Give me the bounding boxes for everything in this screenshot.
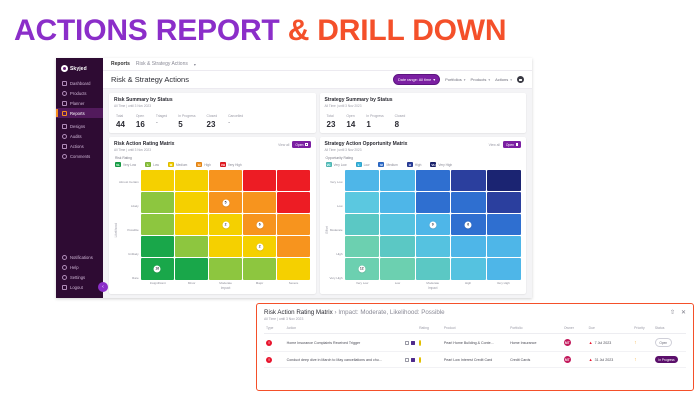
cell-rating: [417, 334, 442, 352]
stat-in-progress: In Progress 5: [178, 114, 195, 129]
heatmap-cell[interactable]: 2: [209, 214, 242, 235]
heatmap-cell[interactable]: [243, 192, 276, 213]
heatmap-cell-count[interactable]: 6: [465, 221, 472, 228]
x-axis-tick: Low: [380, 281, 415, 285]
close-icon[interactable]: ✕: [681, 309, 686, 316]
link-icon[interactable]: [411, 341, 415, 345]
legend-label: Low: [153, 163, 159, 167]
legend-item: VLVery Low: [326, 162, 347, 167]
heatmap-cell-count[interactable]: 9: [429, 221, 436, 228]
strategy-legend: VLVery LowLLowMMediumHHighVHVery High: [325, 162, 522, 167]
stat-label: Closed: [207, 114, 218, 118]
risk-summary-card: Risk Summary by Status All Time | until …: [109, 93, 316, 133]
risk-icon: !: [266, 357, 272, 363]
stat-value: -: [156, 120, 167, 126]
stat-value: 23: [207, 120, 218, 129]
drilldown-separator: ›: [335, 309, 337, 316]
stat-value: -: [228, 120, 243, 126]
stat-triaged: Triaged -: [156, 114, 167, 129]
cell-portfolio: Home Insurance: [508, 334, 562, 352]
sidebar-item-settings[interactable]: Settings: [56, 272, 103, 282]
due-date: 31 Jul 2023: [595, 358, 614, 362]
legend-item: LLow: [145, 162, 159, 167]
drilldown-table: Type Action Rating Product Portfolio Own…: [264, 326, 686, 368]
legend-label: Medium: [176, 163, 187, 167]
chevron-down-icon[interactable]: ▾: [194, 62, 196, 67]
y-axis-tick: Unlikely: [119, 253, 139, 256]
x-axis-tick: High: [450, 281, 485, 285]
legend-swatch: VL: [326, 162, 332, 167]
x-axis-tick: Very High: [486, 281, 521, 285]
heatmap-cell[interactable]: 6: [451, 214, 486, 235]
legend-item: MMedium: [168, 162, 187, 167]
bell-icon: [62, 255, 67, 260]
sidebar-item-label: Products: [70, 91, 87, 96]
date-range-filter[interactable]: Date range: All time ▾: [393, 74, 440, 85]
reports-icon: [62, 111, 67, 116]
y-axis-title: Likelihood: [114, 223, 118, 237]
products-filter[interactable]: Products ▾: [471, 77, 491, 82]
legend-label: Very Low: [123, 163, 136, 167]
products-icon: [62, 91, 67, 96]
card-subtitle: All Time | until 3 Nov 2023: [325, 104, 393, 108]
heatmap-cell[interactable]: [141, 214, 174, 235]
attachment-icon[interactable]: [405, 341, 409, 345]
legend-swatch: H: [196, 162, 202, 167]
open-button[interactable]: Open: [503, 141, 521, 148]
heatmap-cell[interactable]: 9: [416, 214, 451, 235]
y-axis-title: Effort: [325, 226, 329, 234]
y-axis-tick: Moderate: [330, 229, 343, 232]
x-axis-tick: Very Low: [345, 281, 380, 285]
chevron-down-icon: ▾: [464, 78, 466, 82]
heatmap-cell[interactable]: [487, 170, 522, 191]
card-title: Risk Action Rating Matrix: [114, 141, 174, 147]
drilldown-title: Risk Action Rating Matrix › Impact: Mode…: [264, 309, 445, 316]
strategy-matrix-card: Strategy Action Opportunity Matrix All T…: [320, 137, 527, 294]
sidebar-item-designs[interactable]: Designs: [56, 121, 103, 131]
brand-name: Skyjed: [70, 66, 87, 72]
chevron-down-icon: ▾: [433, 77, 435, 82]
breadcrumb-root[interactable]: Reports: [111, 61, 130, 67]
heatmap-cell[interactable]: [416, 170, 451, 191]
legend-item: VHVery High: [430, 162, 452, 167]
column-portfolio: Portfolio: [508, 326, 562, 334]
sidebar-item-reports[interactable]: Reports: [56, 108, 103, 118]
heatmap-cell[interactable]: [345, 170, 379, 191]
legend-label: High: [204, 163, 211, 167]
sidebar-item-label: Help: [70, 265, 79, 270]
y-axis-tick: Likely: [119, 205, 139, 208]
stat-label: Total: [327, 114, 336, 118]
sidebar: Skyjed Dashboard Products Planner Report…: [56, 58, 103, 298]
y-axis-tick: Rare: [119, 277, 139, 280]
cell-type: !: [264, 334, 285, 352]
comments-icon: [62, 154, 67, 159]
heatmap-cell[interactable]: 16: [141, 258, 174, 279]
sidebar-item-label: Notifications: [70, 255, 93, 260]
strategy-matrix-chart: Effort Very LowLowModerateHighVery High …: [325, 170, 522, 290]
card-subtitle: All Time | until 3 Nov 2023: [325, 148, 408, 152]
stat-value: 14: [346, 120, 355, 129]
heatmap-cell-count[interactable]: 2: [256, 243, 263, 250]
risk-matrix-chart: Likelihood Almost CertainLikelyPossibleU…: [114, 170, 311, 290]
products-filter-label: Products: [471, 77, 487, 82]
heatmap-cell[interactable]: [451, 236, 486, 257]
heatmap-cell[interactable]: [175, 170, 208, 191]
stat-value: 5: [178, 120, 195, 129]
open-button[interactable]: Open: [292, 141, 310, 148]
x-axis-title: Impact: [345, 286, 521, 290]
cell-product: Pearl Home Building & Conte...: [442, 334, 508, 352]
heatmap-cell[interactable]: [487, 258, 522, 279]
sidebar-collapse-button[interactable]: ‹: [98, 282, 108, 292]
table-row[interactable]: !Conduct deep dive in March to May cance…: [264, 352, 686, 368]
view-all-link[interactable]: View all: [489, 143, 500, 147]
x-axis-tick: Moderate: [415, 281, 450, 285]
cell-product: Pearl Low Interest Credit Card: [442, 352, 508, 368]
heatmap-cell[interactable]: [277, 214, 310, 235]
column-rating: Rating: [417, 326, 442, 334]
x-axis-title: Impact: [141, 286, 311, 290]
header-toolbar: Date range: All time ▾ Portfolios ▾ Prod…: [393, 74, 524, 85]
heatmap-cell[interactable]: [451, 170, 486, 191]
breadcrumb-current[interactable]: Risk & Strategy Actions: [136, 61, 188, 67]
legend-swatch: H: [407, 162, 413, 167]
heatmap-cell[interactable]: [487, 214, 522, 235]
sidebar-item-help[interactable]: Help: [56, 262, 103, 272]
risk-heatmap-grid[interactable]: 526216: [141, 170, 311, 280]
cell-status: In Progress: [653, 352, 686, 368]
card-title: Risk Summary by Status: [114, 97, 173, 103]
heatmap-cell[interactable]: [345, 236, 379, 257]
drilldown-context: Impact: Moderate, Likelihood: Possible: [338, 309, 444, 316]
card-title: Strategy Summary by Status: [325, 97, 393, 103]
legend-swatch: M: [378, 162, 384, 167]
due-date: 7 Jul 2023: [595, 341, 612, 345]
column-type: Type: [264, 326, 285, 334]
heatmap-cell[interactable]: [209, 170, 242, 191]
sidebar-item-products[interactable]: Products: [56, 88, 103, 98]
heatmap-cell[interactable]: [277, 192, 310, 213]
sidebar-item-audits[interactable]: Audits: [56, 131, 103, 141]
heatmap-cell-count[interactable]: 6: [256, 221, 263, 228]
page-banner: ACTIONS REPORT & DRILL DOWN: [14, 14, 506, 48]
heatmap-cell[interactable]: [209, 236, 242, 257]
stat-value: 23: [327, 120, 336, 129]
external-link-icon: [305, 143, 308, 146]
portfolios-filter-label: Portfolios: [445, 77, 462, 82]
heatmap-cell[interactable]: [416, 192, 451, 213]
stat-open: Open 14: [346, 114, 355, 129]
heatmap-cell[interactable]: [141, 236, 174, 257]
sidebar-item-label: Settings: [70, 275, 85, 280]
sidebar-item-label: Reports: [70, 111, 85, 116]
heatmap-cell[interactable]: [209, 258, 242, 279]
heatmap-cell[interactable]: 2: [243, 236, 276, 257]
column-status: Status: [653, 326, 686, 334]
heatmap-cell[interactable]: [380, 236, 415, 257]
legend-caption: Opportunity Rating: [326, 156, 522, 160]
attachment-icon[interactable]: [405, 358, 409, 362]
heatmap-cell[interactable]: 12: [345, 258, 379, 279]
legend-label: Very Low: [334, 163, 347, 167]
x-axis-tick: Moderate: [209, 281, 243, 285]
page-header: Risk & Strategy Actions Date range: All …: [103, 71, 532, 89]
legend-item: VLVery Low: [115, 162, 136, 167]
legend-item: MMedium: [378, 162, 397, 167]
cell-type: !: [264, 352, 285, 368]
rating-indicator: [419, 340, 421, 346]
risk-legend: VLVery LowLLowMMediumHHighVHVery High: [114, 162, 311, 167]
cell-owner: MT: [562, 352, 587, 368]
heatmap-cell[interactable]: [345, 214, 379, 235]
legend-caption: Risk Rating: [115, 156, 311, 160]
heatmap-cell[interactable]: [451, 258, 486, 279]
heatmap-cell[interactable]: [487, 192, 522, 213]
heatmap-cell[interactable]: [277, 236, 310, 257]
legend-swatch: VH: [220, 162, 226, 167]
cell-due: ▲7 Jul 2023: [587, 334, 633, 352]
actions-filter-label: Actions: [495, 77, 508, 82]
stat-closed: Closed 23: [207, 114, 218, 129]
heatmap-cell[interactable]: [451, 192, 486, 213]
avatar[interactable]: MT: [564, 339, 571, 346]
sidebar-item-notifications[interactable]: Notifications: [56, 252, 103, 262]
column-product: Product: [442, 326, 508, 334]
status-badge: In Progress: [655, 356, 678, 363]
column-due: Due: [587, 326, 633, 334]
sidebar-bottom-nav: Notifications Help Settings Logout: [56, 252, 103, 298]
card-subtitle: All Time | until 3 Nov 2023: [114, 148, 174, 152]
stat-value: 1: [366, 120, 383, 129]
y-axis-tick: Low: [330, 205, 343, 208]
cell-action[interactable]: Conduct deep dive in March to May cancel…: [285, 352, 417, 368]
stat-label: Cancelled: [228, 114, 243, 118]
logout-icon: [62, 285, 67, 290]
heatmap-cell-count[interactable]: 2: [222, 221, 229, 228]
legend-item: LLow: [356, 162, 370, 167]
external-link-icon: [516, 143, 519, 146]
table-header-row: Type Action Rating Product Portfolio Own…: [264, 326, 686, 334]
heatmap-cell[interactable]: 5: [209, 192, 242, 213]
brand-mark-icon: [61, 65, 68, 72]
legend-label: Medium: [386, 163, 397, 167]
stat-label: Open: [136, 114, 145, 118]
heatmap-cell[interactable]: [380, 192, 415, 213]
y-axis-tick: Almost Certain: [119, 181, 139, 184]
gear-icon: [62, 275, 67, 280]
sidebar-item-label: Actions: [70, 144, 84, 149]
overdue-icon: ▲: [589, 340, 593, 345]
heatmap-cell-count[interactable]: 5: [222, 199, 229, 206]
legend-swatch: VH: [430, 162, 436, 167]
heatmap-cell[interactable]: [243, 170, 276, 191]
strategy-heatmap-grid[interactable]: 9612: [345, 170, 521, 280]
rating-indicator: [419, 357, 421, 363]
heatmap-cell[interactable]: [487, 236, 522, 257]
strategy-summary-card: Strategy Summary by Status All Time | un…: [320, 93, 527, 133]
stat-value: 8: [395, 120, 406, 129]
stat-label: In Progress: [366, 114, 383, 118]
sidebar-item-label: Planner: [70, 101, 84, 106]
chevron-down-icon: ▾: [488, 78, 490, 82]
heatmap-cell[interactable]: [175, 258, 208, 279]
cell-rating: [417, 352, 442, 368]
heatmap-cell[interactable]: [175, 214, 208, 235]
help-icon: [62, 265, 67, 270]
sidebar-item-actions[interactable]: Actions: [56, 141, 103, 151]
date-range-label: Date range: All time: [398, 78, 431, 82]
stat-value: 16: [136, 120, 145, 129]
sidebar-item-label: Comments: [70, 154, 90, 159]
legend-label: High: [415, 163, 422, 167]
cell-action[interactable]: Home Insurance Complaints Received Trigg…: [285, 334, 417, 352]
brand-logo[interactable]: Skyjed: [56, 63, 103, 78]
heatmap-cell[interactable]: [380, 214, 415, 235]
priority-icon: ↑: [634, 340, 637, 346]
x-axis-tick: Insignificant: [141, 281, 175, 285]
y-axis-tick: High: [330, 253, 343, 256]
risk-icon: !: [266, 340, 272, 346]
x-axis-labels: Very LowLowModerateHighVery High: [345, 281, 521, 285]
main-content: Reports Risk & Strategy Actions ▾ Risk &…: [103, 58, 532, 298]
sidebar-item-dashboard[interactable]: Dashboard: [56, 78, 103, 88]
stat-label: In Progress: [178, 114, 195, 118]
stat-value: 44: [116, 120, 125, 129]
cell-priority: ↑: [632, 352, 653, 368]
open-button-label: Open: [295, 143, 303, 147]
stat-label: Open: [346, 114, 355, 118]
portfolios-filter[interactable]: Portfolios ▾: [445, 77, 465, 82]
action-text: Home Insurance Complaints Received Trigg…: [287, 341, 361, 345]
y-axis-tick: Very Low: [330, 181, 343, 184]
table-row[interactable]: !Home Insurance Complaints Received Trig…: [264, 334, 686, 352]
sidebar-nav: Dashboard Products Planner Reports Desig…: [56, 78, 103, 161]
heatmap-cell[interactable]: [277, 170, 310, 191]
legend-label: Very High: [228, 163, 242, 167]
sidebar-item-planner[interactable]: Planner: [56, 98, 103, 108]
heatmap-cell-count[interactable]: 16: [154, 265, 161, 272]
cell-portfolio: Credit Cards: [508, 352, 562, 368]
risk-summary-stats: Total 44 Open 16 Triaged - In Progress 5: [114, 114, 311, 129]
heatmap-cell[interactable]: [243, 258, 276, 279]
stat-closed: Closed 8: [395, 114, 406, 129]
legend-item: HHigh: [407, 162, 422, 167]
status-badge: Open: [655, 338, 672, 347]
dashboard-icon: [62, 81, 67, 86]
view-all-link[interactable]: View all: [278, 143, 289, 147]
cell-owner: MT: [562, 334, 587, 352]
heatmap-cell[interactable]: [175, 236, 208, 257]
y-axis-tick: Possible: [119, 229, 139, 232]
stat-open: Open 16: [136, 114, 145, 129]
risk-matrix-card: Risk Action Rating Matrix All Time | unt…: [109, 137, 316, 294]
stat-cancelled: Cancelled -: [228, 114, 243, 129]
print-icon[interactable]: [517, 76, 524, 83]
legend-item: HHigh: [196, 162, 211, 167]
heatmap-cell[interactable]: [141, 192, 174, 213]
y-axis-labels: Almost CertainLikelyPossibleUnlikelyRare: [119, 170, 139, 290]
card-title: Strategy Action Opportunity Matrix: [325, 141, 408, 147]
column-owner: Owner: [562, 326, 587, 334]
sidebar-item-label: Designs: [70, 124, 85, 129]
stat-label: Triaged: [156, 114, 167, 118]
avatar[interactable]: MT: [564, 356, 571, 363]
sidebar-item-label: Logout: [70, 285, 83, 290]
heatmap-cell[interactable]: [380, 170, 415, 191]
audits-icon: [62, 134, 67, 139]
breadcrumb: Reports Risk & Strategy Actions ▾: [103, 58, 532, 71]
cell-status: Open: [653, 334, 686, 352]
planner-icon: [62, 101, 67, 106]
cell-priority: ↑: [632, 334, 653, 352]
heatmap-cell[interactable]: 6: [243, 214, 276, 235]
priority-icon: ↑: [634, 357, 637, 363]
actions-filter[interactable]: Actions ▾: [495, 77, 512, 82]
heatmap-cell[interactable]: [277, 258, 310, 279]
column-action: Action: [285, 326, 417, 334]
y-axis-labels: Very LowLowModerateHighVery High: [330, 170, 343, 290]
banner-title-secondary: & DRILL DOWN: [288, 14, 507, 47]
legend-label: Very High: [438, 163, 452, 167]
drilldown-panel: Risk Action Rating Matrix › Impact: Mode…: [256, 303, 694, 391]
heatmap-cell[interactable]: [416, 236, 451, 257]
card-subtitle: All Time | until 3 Nov 2023: [114, 104, 173, 108]
heatmap-cell[interactable]: [345, 192, 379, 213]
sidebar-item-label: Dashboard: [70, 81, 91, 86]
heatmap-cell-count[interactable]: 12: [358, 265, 365, 272]
legend-swatch: L: [356, 162, 362, 167]
heatmap-cell[interactable]: [416, 258, 451, 279]
sidebar-item-label: Audits: [70, 134, 82, 139]
app-window: Skyjed Dashboard Products Planner Report…: [56, 58, 532, 298]
action-text: Conduct deep dive in March to May cancel…: [287, 358, 382, 362]
legend-swatch: L: [145, 162, 151, 167]
drilldown-title-main: Risk Action Rating Matrix: [264, 309, 333, 316]
stat-total: Total 44: [116, 114, 125, 129]
overdue-icon: ▲: [589, 357, 593, 362]
banner-title-primary: ACTIONS REPORT: [14, 14, 288, 47]
heatmap-cell[interactable]: [141, 170, 174, 191]
stat-label: Total: [116, 114, 125, 118]
page-title: Risk & Strategy Actions: [111, 75, 189, 84]
heatmap-cell[interactable]: [175, 192, 208, 213]
chevron-down-icon: ▾: [510, 78, 512, 82]
x-axis-tick: Severe: [277, 281, 311, 285]
actions-icon: [62, 144, 67, 149]
share-icon[interactable]: ⇧: [670, 309, 675, 316]
sidebar-item-comments[interactable]: Comments: [56, 151, 103, 161]
legend-swatch: VL: [115, 162, 121, 167]
stat-label: Closed: [395, 114, 406, 118]
legend-item: VHVery High: [220, 162, 242, 167]
heatmap-cell[interactable]: [380, 258, 415, 279]
cell-due: ▲31 Jul 2023: [587, 352, 633, 368]
x-axis-tick: Major: [243, 281, 277, 285]
stat-in-progress: In Progress 1: [366, 114, 383, 129]
open-button-label: Open: [506, 143, 514, 147]
designs-icon: [62, 124, 67, 129]
strategy-summary-stats: Total 23 Open 14 In Progress 1 Closed 8: [325, 114, 522, 129]
sidebar-item-logout[interactable]: Logout: [56, 282, 103, 292]
x-axis-labels: InsignificantMinorModerateMajorSevere: [141, 281, 311, 285]
stat-total: Total 23: [327, 114, 336, 129]
legend-label: Low: [364, 163, 370, 167]
x-axis-tick: Minor: [175, 281, 209, 285]
link-icon[interactable]: [411, 358, 415, 362]
y-axis-tick: Very High: [330, 277, 343, 280]
